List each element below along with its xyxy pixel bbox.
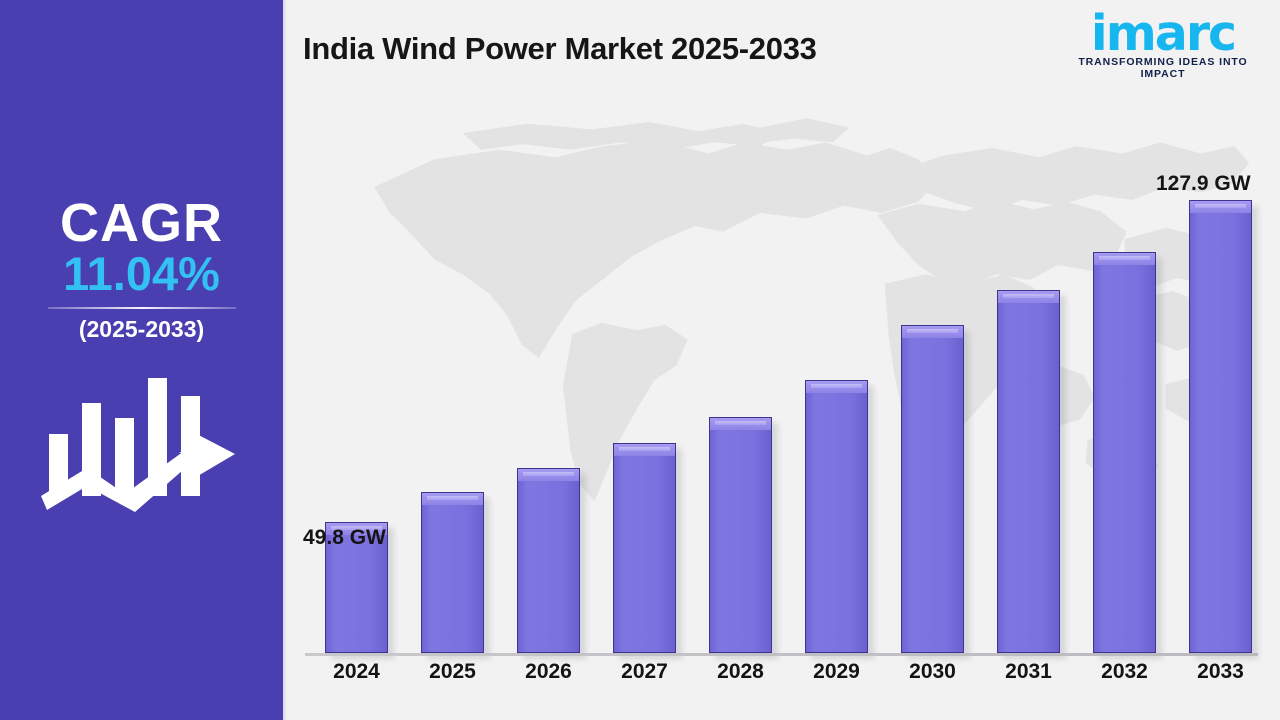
bar-2030 [901, 325, 964, 653]
bar-top-cap [421, 492, 484, 505]
x-axis-tick-2031: 2031 [987, 660, 1070, 684]
growth-bar-chart-arrow-icon [0, 368, 283, 523]
cagr-value: 11.04% [0, 249, 283, 298]
bar-body [709, 417, 772, 653]
chart-area: 49.8 GW127.9 GW 202420252026202720282029… [283, 0, 1280, 720]
x-axis-tick-2030: 2030 [891, 660, 974, 684]
bar-2031 [997, 290, 1060, 653]
cagr-label: CAGR [0, 196, 283, 251]
bar-value-label-2033: 127.9 GW [1156, 172, 1251, 196]
bar-body [997, 290, 1060, 653]
bar-2026 [517, 468, 580, 653]
bar-body [613, 443, 676, 653]
bars-layer: 49.8 GW127.9 GW [283, 0, 1280, 720]
bar-top-cap [613, 443, 676, 456]
bar-2032 [1093, 252, 1156, 653]
x-axis-tick-2029: 2029 [795, 660, 878, 684]
x-axis-tick-2025: 2025 [411, 660, 494, 684]
bar-top-cap [1189, 200, 1252, 213]
bar-body [517, 468, 580, 653]
cagr-range: (2025-2033) [0, 316, 283, 343]
bar-body [805, 380, 868, 653]
bar-top-cap [805, 380, 868, 393]
bar-body [901, 325, 964, 653]
bar-top-cap [1093, 252, 1156, 265]
x-axis-line [305, 653, 1258, 656]
cagr-divider [48, 307, 236, 309]
bar-body [421, 492, 484, 653]
bar-top-cap [517, 468, 580, 481]
bar-2029 [805, 380, 868, 653]
bar-top-cap [997, 290, 1060, 303]
x-axis-tick-2027: 2027 [603, 660, 686, 684]
bar-2027 [613, 443, 676, 653]
bar-top-cap [901, 325, 964, 338]
bar-body [1189, 200, 1252, 653]
bar-value-label-2024: 49.8 GW [303, 526, 386, 550]
cagr-block: CAGR 11.04% (2025-2033) [0, 196, 283, 343]
bar-2033 [1189, 200, 1252, 653]
bar-2025 [421, 492, 484, 653]
infographic-canvas: CAGR 11.04% (2025-2033) India Win [0, 0, 1280, 720]
x-axis-tick-2033: 2033 [1179, 660, 1262, 684]
bar-2028 [709, 417, 772, 653]
x-axis-tick-2026: 2026 [507, 660, 590, 684]
x-axis-tick-2028: 2028 [699, 660, 782, 684]
bar-top-cap [709, 417, 772, 430]
x-axis-tick-2024: 2024 [315, 660, 398, 684]
bar-body [1093, 252, 1156, 653]
x-axis-tick-2032: 2032 [1083, 660, 1166, 684]
cagr-panel: CAGR 11.04% (2025-2033) [0, 0, 283, 720]
